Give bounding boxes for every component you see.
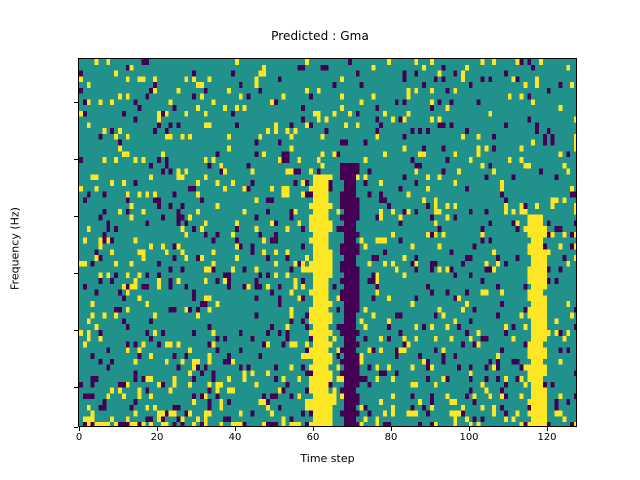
xtick-mark-4 — [391, 427, 392, 431]
xtick-mark-3 — [313, 427, 314, 431]
page-title: Predicted : Gma — [0, 29, 640, 43]
ytick-mark-5 — [74, 159, 78, 160]
x-axis-label: Time step — [78, 452, 577, 465]
xtick-mark-0 — [79, 427, 80, 431]
ytick-mark-6 — [74, 102, 78, 103]
ytick-mark-2 — [74, 330, 78, 331]
ytick-mark-0 — [74, 427, 78, 428]
xtick-label-1: 20 — [151, 432, 164, 443]
xtick-mark-2 — [235, 427, 236, 431]
xtick-mark-6 — [547, 427, 548, 431]
xtick-label-0: 0 — [76, 432, 82, 443]
ytick-mark-4 — [74, 216, 78, 217]
xtick-label-5: 100 — [459, 432, 478, 443]
xtick-label-4: 80 — [385, 432, 398, 443]
xtick-mark-1 — [157, 427, 158, 431]
heatmap-image — [79, 59, 577, 427]
ytick-mark-1 — [74, 387, 78, 388]
heatmap-axes[interactable] — [78, 58, 577, 427]
xtick-label-6: 120 — [537, 432, 556, 443]
xtick-mark-5 — [469, 427, 470, 431]
figure-canvas: Predicted : Gma 0 20000 40000 60000 8000… — [0, 0, 640, 480]
y-axis-label: Frequency (Hz) — [9, 149, 22, 349]
xtick-label-2: 40 — [229, 432, 242, 443]
ytick-mark-3 — [74, 273, 78, 274]
xtick-label-3: 60 — [307, 432, 320, 443]
